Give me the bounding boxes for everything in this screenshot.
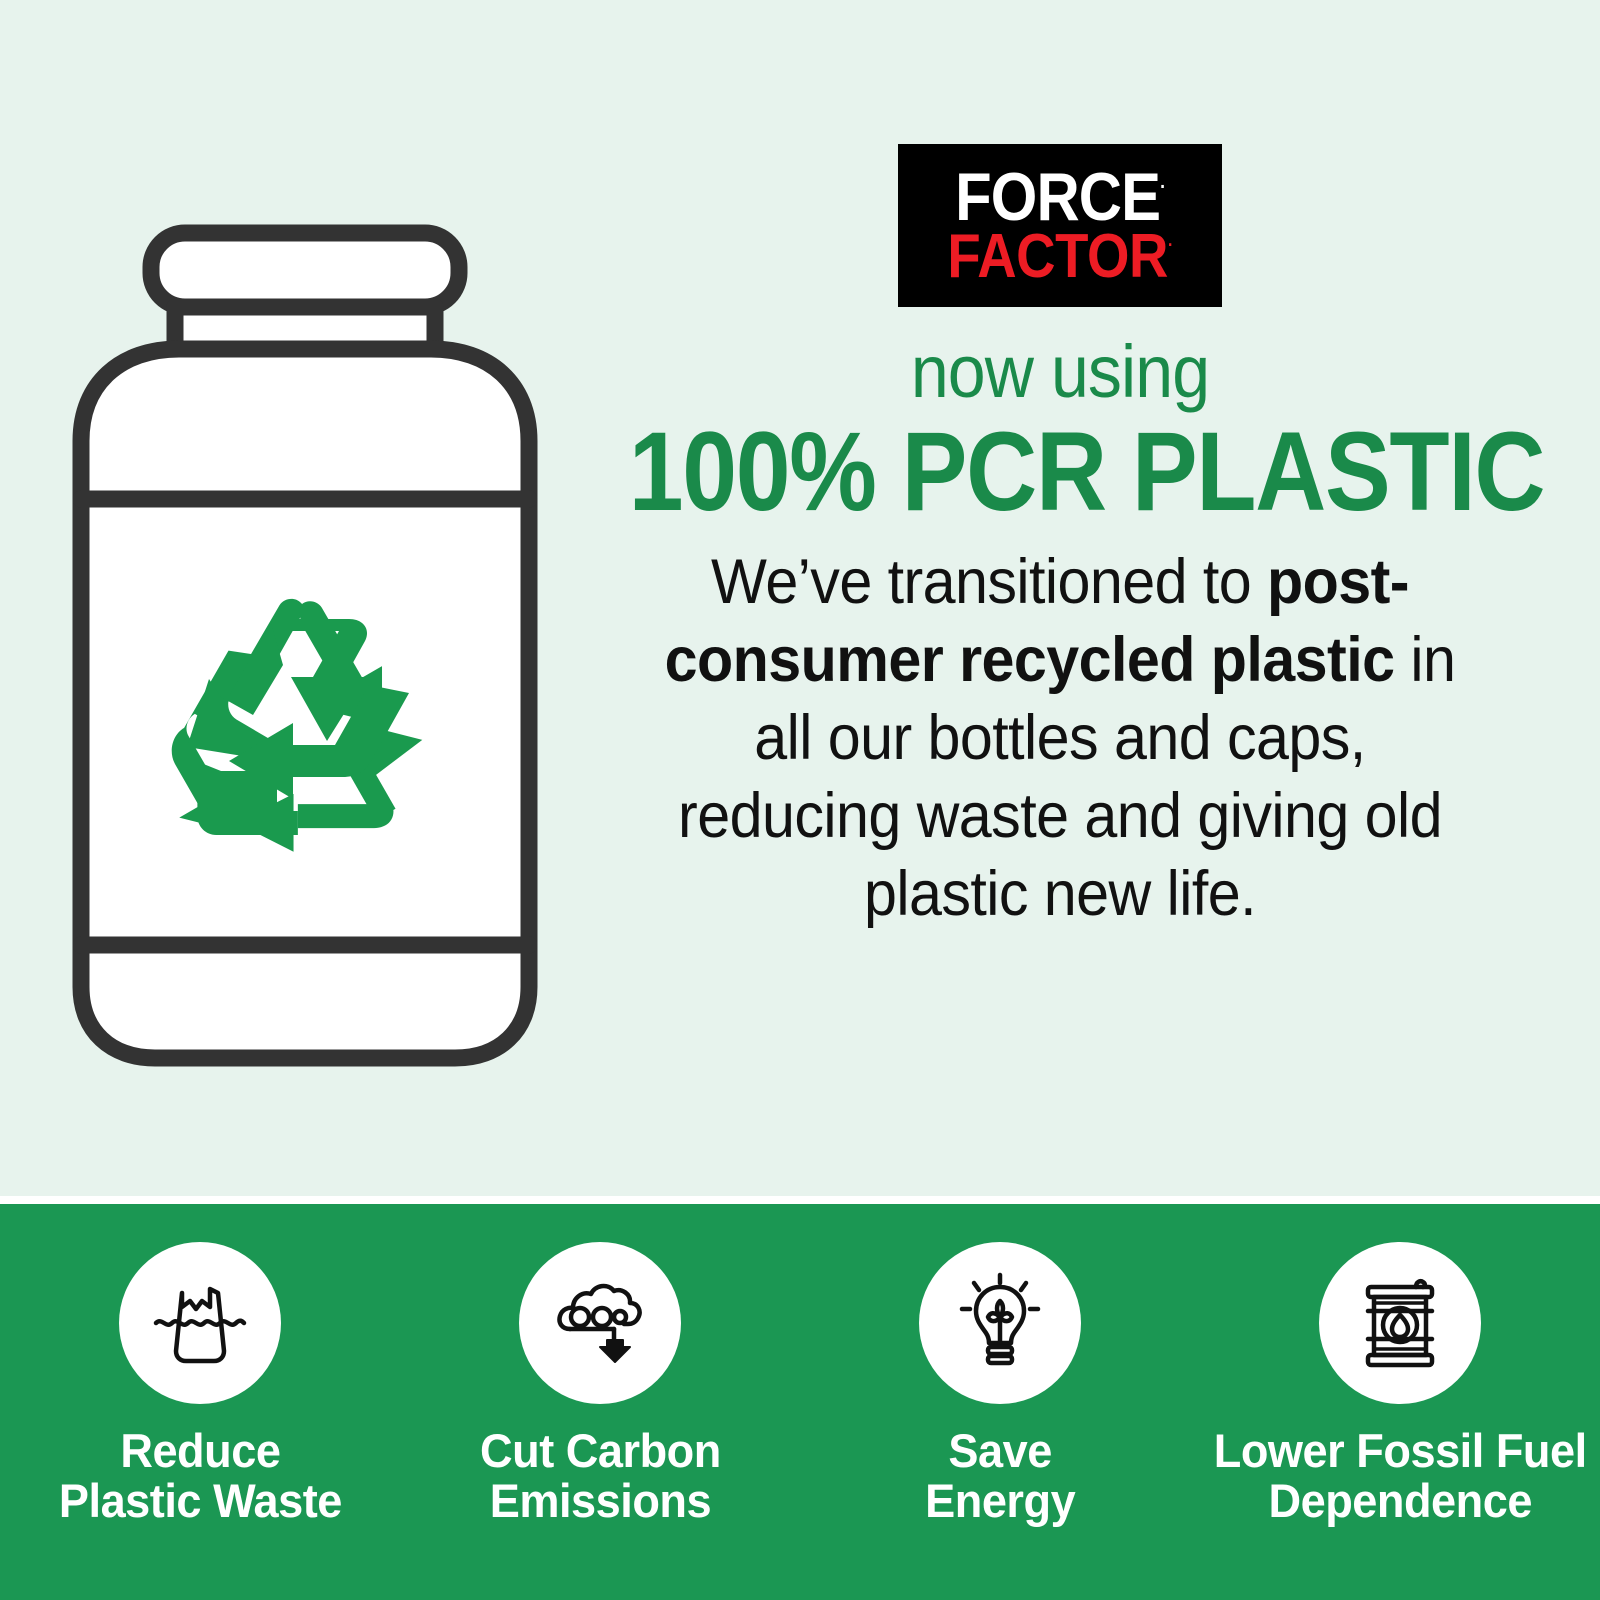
plastic-bag-in-water-icon xyxy=(144,1267,256,1379)
benefits-row: Reduce Plastic Waste xyxy=(0,1204,1600,1600)
benefit-icon-bubble xyxy=(519,1242,681,1404)
logo-force-text: FORCE. xyxy=(948,170,1173,226)
infographic-canvas: FORCE. FACTOR. now using 100% PCR PLASTI… xyxy=(0,0,1600,1600)
top-section: FORCE. FACTOR. now using 100% PCR PLASTI… xyxy=(0,0,1600,1196)
benefit-label: Cut Carbon Emissions xyxy=(480,1426,721,1526)
force-factor-logo: FORCE. FACTOR. xyxy=(898,144,1221,307)
benefit-item-lower-fossil-fuel-dependence: Lower Fossil Fuel Dependence xyxy=(1200,1204,1600,1526)
oil-barrel-droplet-icon xyxy=(1344,1267,1456,1379)
bottle-svg xyxy=(55,215,555,1080)
co2-cloud-down-arrow-icon xyxy=(544,1267,656,1379)
benefit-icon-bubble xyxy=(919,1242,1081,1404)
logo-factor-text: FACTOR. xyxy=(948,228,1173,285)
benefit-label: Lower Fossil Fuel Dependence xyxy=(1214,1426,1587,1526)
eyebrow-text: now using xyxy=(609,335,1511,409)
body-paragraph: We’ve transitioned to post-consumer recy… xyxy=(637,543,1483,934)
lightbulb-plant-icon xyxy=(944,1267,1056,1379)
benefit-label: Reduce Plastic Waste xyxy=(59,1426,342,1526)
benefit-icon-bubble xyxy=(119,1242,281,1404)
benefit-item-cut-carbon-emissions: Cut Carbon Emissions xyxy=(400,1204,800,1526)
bottle-cap xyxy=(151,233,459,307)
benefit-icon-bubble xyxy=(1319,1242,1481,1404)
benefit-label: Save Energy xyxy=(925,1426,1075,1526)
benefit-item-save-energy: Save Energy xyxy=(800,1204,1200,1526)
hero-content: FORCE. FACTOR. now using 100% PCR PLASTI… xyxy=(570,130,1550,1090)
bottle-illustration xyxy=(55,215,555,1080)
benefit-item-reduce-plastic-waste: Reduce Plastic Waste xyxy=(0,1204,400,1526)
benefits-band: Reduce Plastic Waste xyxy=(0,1204,1600,1600)
section-divider xyxy=(0,1196,1600,1204)
logo-trademark-dot-2: . xyxy=(1168,230,1172,250)
page-title: 100% PCR PLASTIC xyxy=(629,415,1491,529)
body-part-1: We’ve transitioned to xyxy=(711,547,1267,617)
logo-trademark-dot-1: . xyxy=(1161,171,1165,193)
